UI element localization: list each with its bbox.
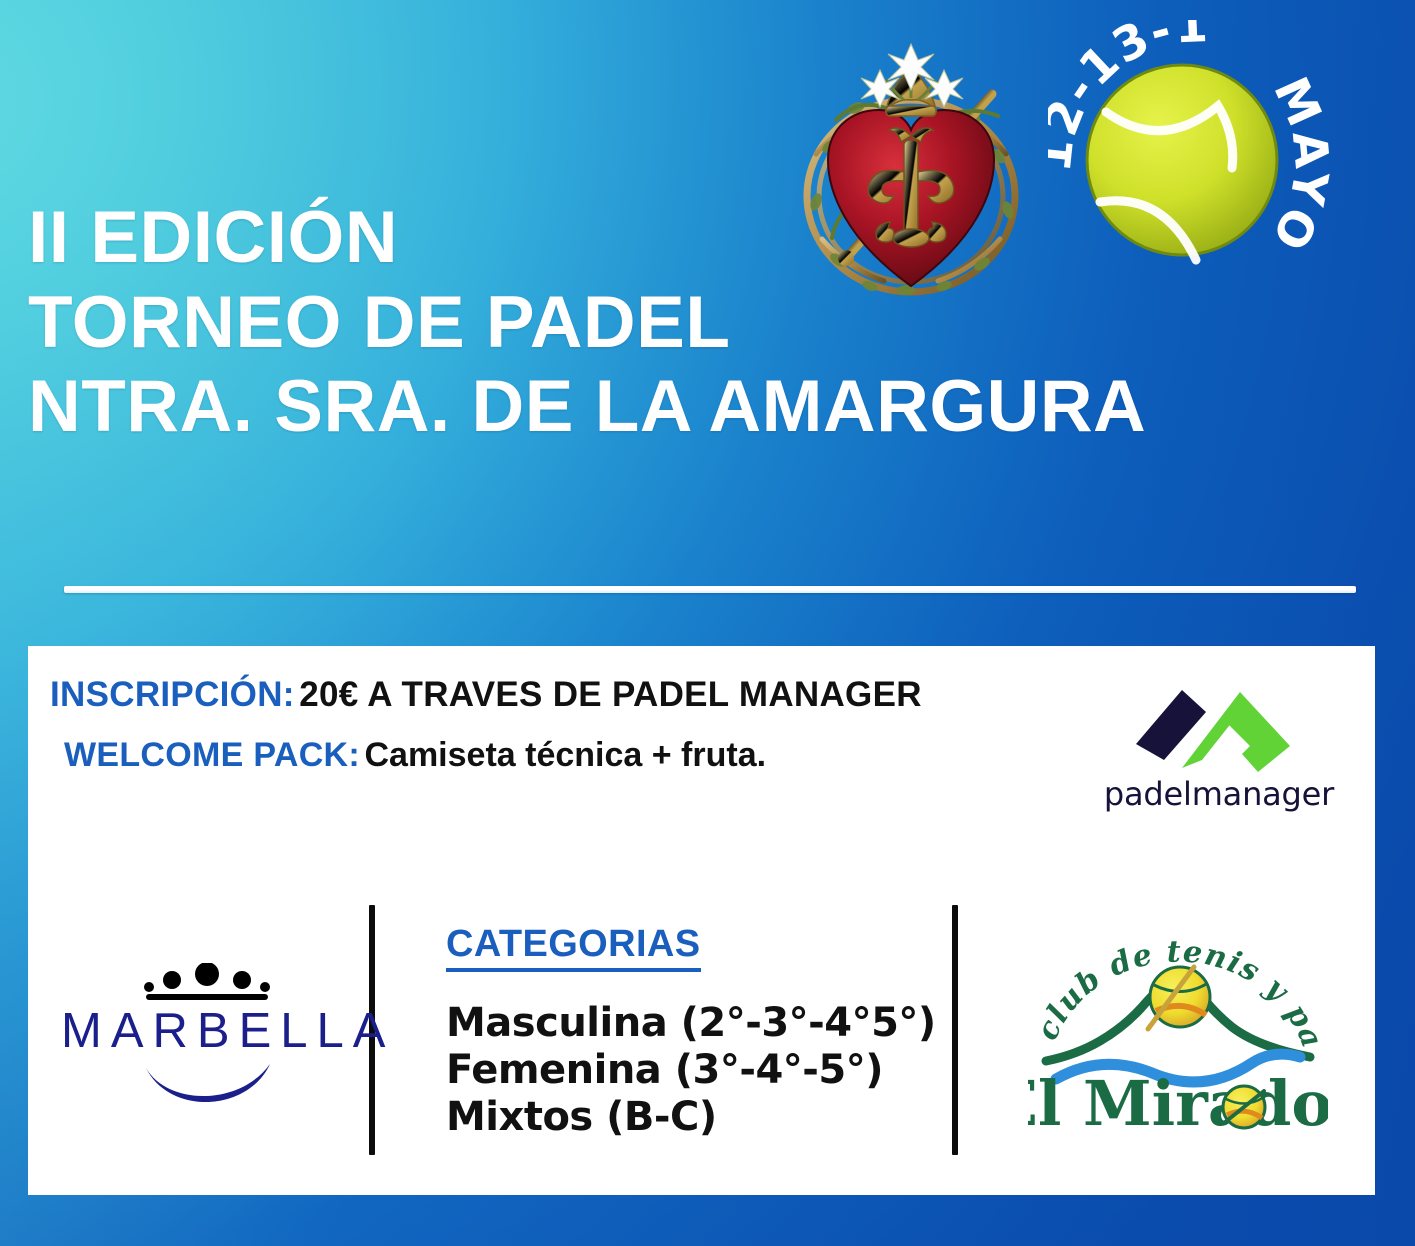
registration-block: INSCRIPCIÓN: 20€ A TRAVES DE PADEL MANAG… [50,676,1130,774]
headline-line-3: NTRA. SRA. DE LA AMARGURA [28,365,1146,450]
mirador-wordmark: El Mirador [1028,1067,1328,1140]
padelmanager-wordmark: padelmanager [1103,775,1335,813]
poster-canvas: 12-13-14 MAYO II EDICIÓN TORNEO DE PADEL… [0,0,1415,1246]
info-card: INSCRIPCIÓN: 20€ A TRAVES DE PADEL MANAG… [28,646,1375,1195]
padelmanager-mark-icon [1124,668,1314,773]
card-bottom-row: MARBELLA CATEGORIAS Masculina (2°-3°-4°5… [28,905,1375,1173]
category-item: Mixtos (B-C) [446,1094,916,1141]
marbella-logo: MARBELLA [52,963,362,1102]
tennis-ball [1087,65,1277,255]
padelmanager-logo: padelmanager [1103,668,1335,813]
welcome-pack-label: WELCOME PACK: [64,736,360,774]
categories-list: Masculina (2°-3°-4°5°) Femenina (3°-4°-5… [446,1000,916,1142]
categories-block: CATEGORIAS Masculina (2°-3°-4°5°) Femeni… [446,925,916,1141]
registration-line: INSCRIPCIÓN: 20€ A TRAVES DE PADEL MANAG… [50,676,1130,715]
el-mirador-logo: club de tenis y padel El Mirador [1028,911,1328,1141]
marbella-wordmark: MARBELLA [52,1007,362,1056]
marbella-swoosh-icon [132,1062,282,1102]
welcome-pack-line: WELCOME PACK: Camiseta técnica + fruta. [50,737,1130,774]
sacred-heart-emblem [786,24,1036,314]
mirador-o-ball-icon [1223,1086,1265,1128]
headline-divider [64,586,1356,593]
registration-value: 20€ A TRAVES DE PADEL MANAGER [299,675,922,714]
category-item: Femenina (3°-4°-5°) [446,1047,916,1094]
welcome-pack-value: Camiseta técnica + fruta. [364,736,766,774]
divider-right [952,905,958,1155]
registration-label: INSCRIPCIÓN: [50,675,295,714]
marbella-crown-icon [132,963,282,1005]
category-item: Masculina (2°-3°-4°5°) [446,1000,916,1047]
categories-title: CATEGORIAS [446,925,701,972]
date-badge: 12-13-14 MAYO [1048,20,1348,320]
mountain-ball-icon [1148,967,1210,1029]
